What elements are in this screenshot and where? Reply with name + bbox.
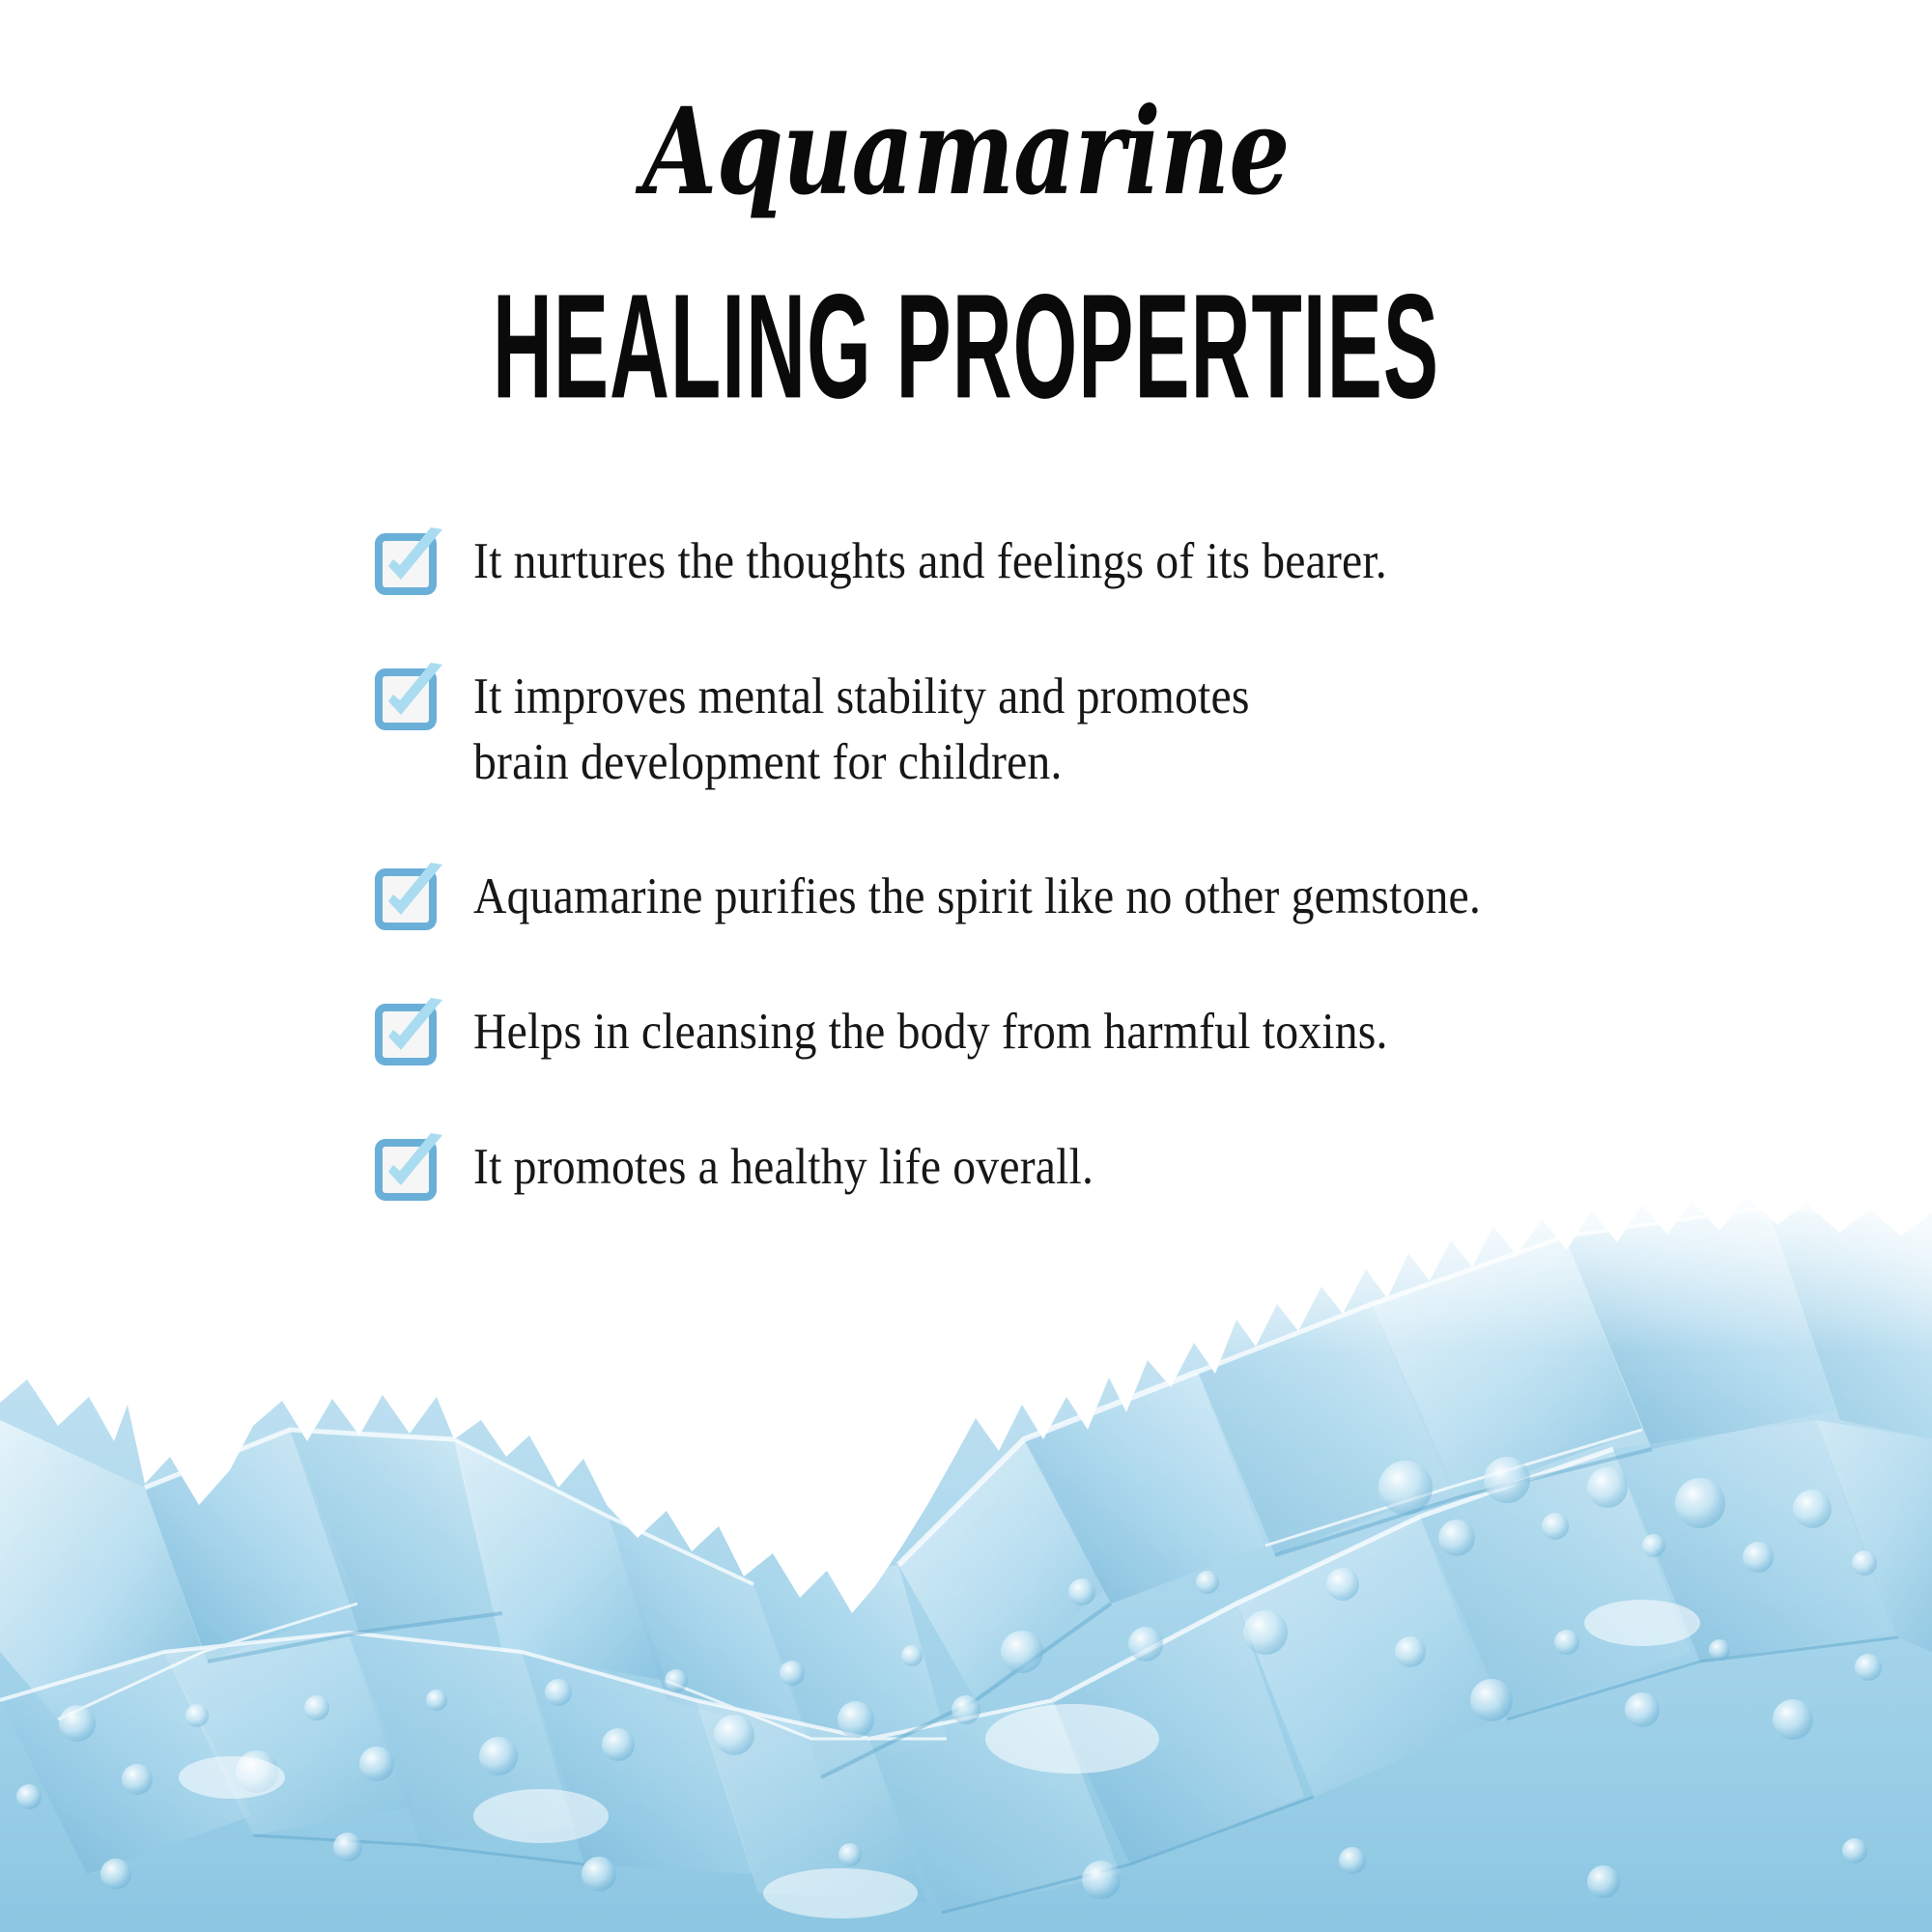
checked-checkbox-icon xyxy=(375,868,435,928)
checked-checkbox-icon xyxy=(375,533,435,593)
healing-properties-list: It nurtures the thoughts and feelings of… xyxy=(375,529,1862,1201)
list-item-text: It improves mental stability and promote… xyxy=(473,665,1250,796)
list-item-text: Helps in cleansing the body from harmful… xyxy=(473,1000,1388,1065)
list-item: It improves mental stability and promote… xyxy=(375,665,1862,796)
list-item-text: It nurtures the thoughts and feelings of… xyxy=(473,529,1387,595)
list-item: Helps in cleansing the body from harmful… xyxy=(375,1000,1862,1065)
page-title-script: Aquamarine xyxy=(193,93,1739,213)
checked-checkbox-icon xyxy=(375,1139,435,1199)
list-item: It nurtures the thoughts and feelings of… xyxy=(375,529,1862,595)
list-item-text: It promotes a healthy life overall. xyxy=(473,1135,1094,1201)
list-item: Aquamarine purifies the spirit like no o… xyxy=(375,865,1862,930)
poster-header: Aquamarine HEALING PROPERTIES xyxy=(0,93,1932,394)
checked-checkbox-icon xyxy=(375,1004,435,1064)
list-item-text: Aquamarine purifies the spirit like no o… xyxy=(473,865,1481,930)
checked-checkbox-icon xyxy=(375,668,435,728)
poster-canvas: Aquamarine HEALING PROPERTIES It nurture… xyxy=(0,0,1932,1932)
list-item: It promotes a healthy life overall. xyxy=(375,1135,1862,1201)
crushed-ice-photo xyxy=(0,1198,1932,1932)
page-title-main: HEALING PROPERTIES xyxy=(309,272,1623,421)
